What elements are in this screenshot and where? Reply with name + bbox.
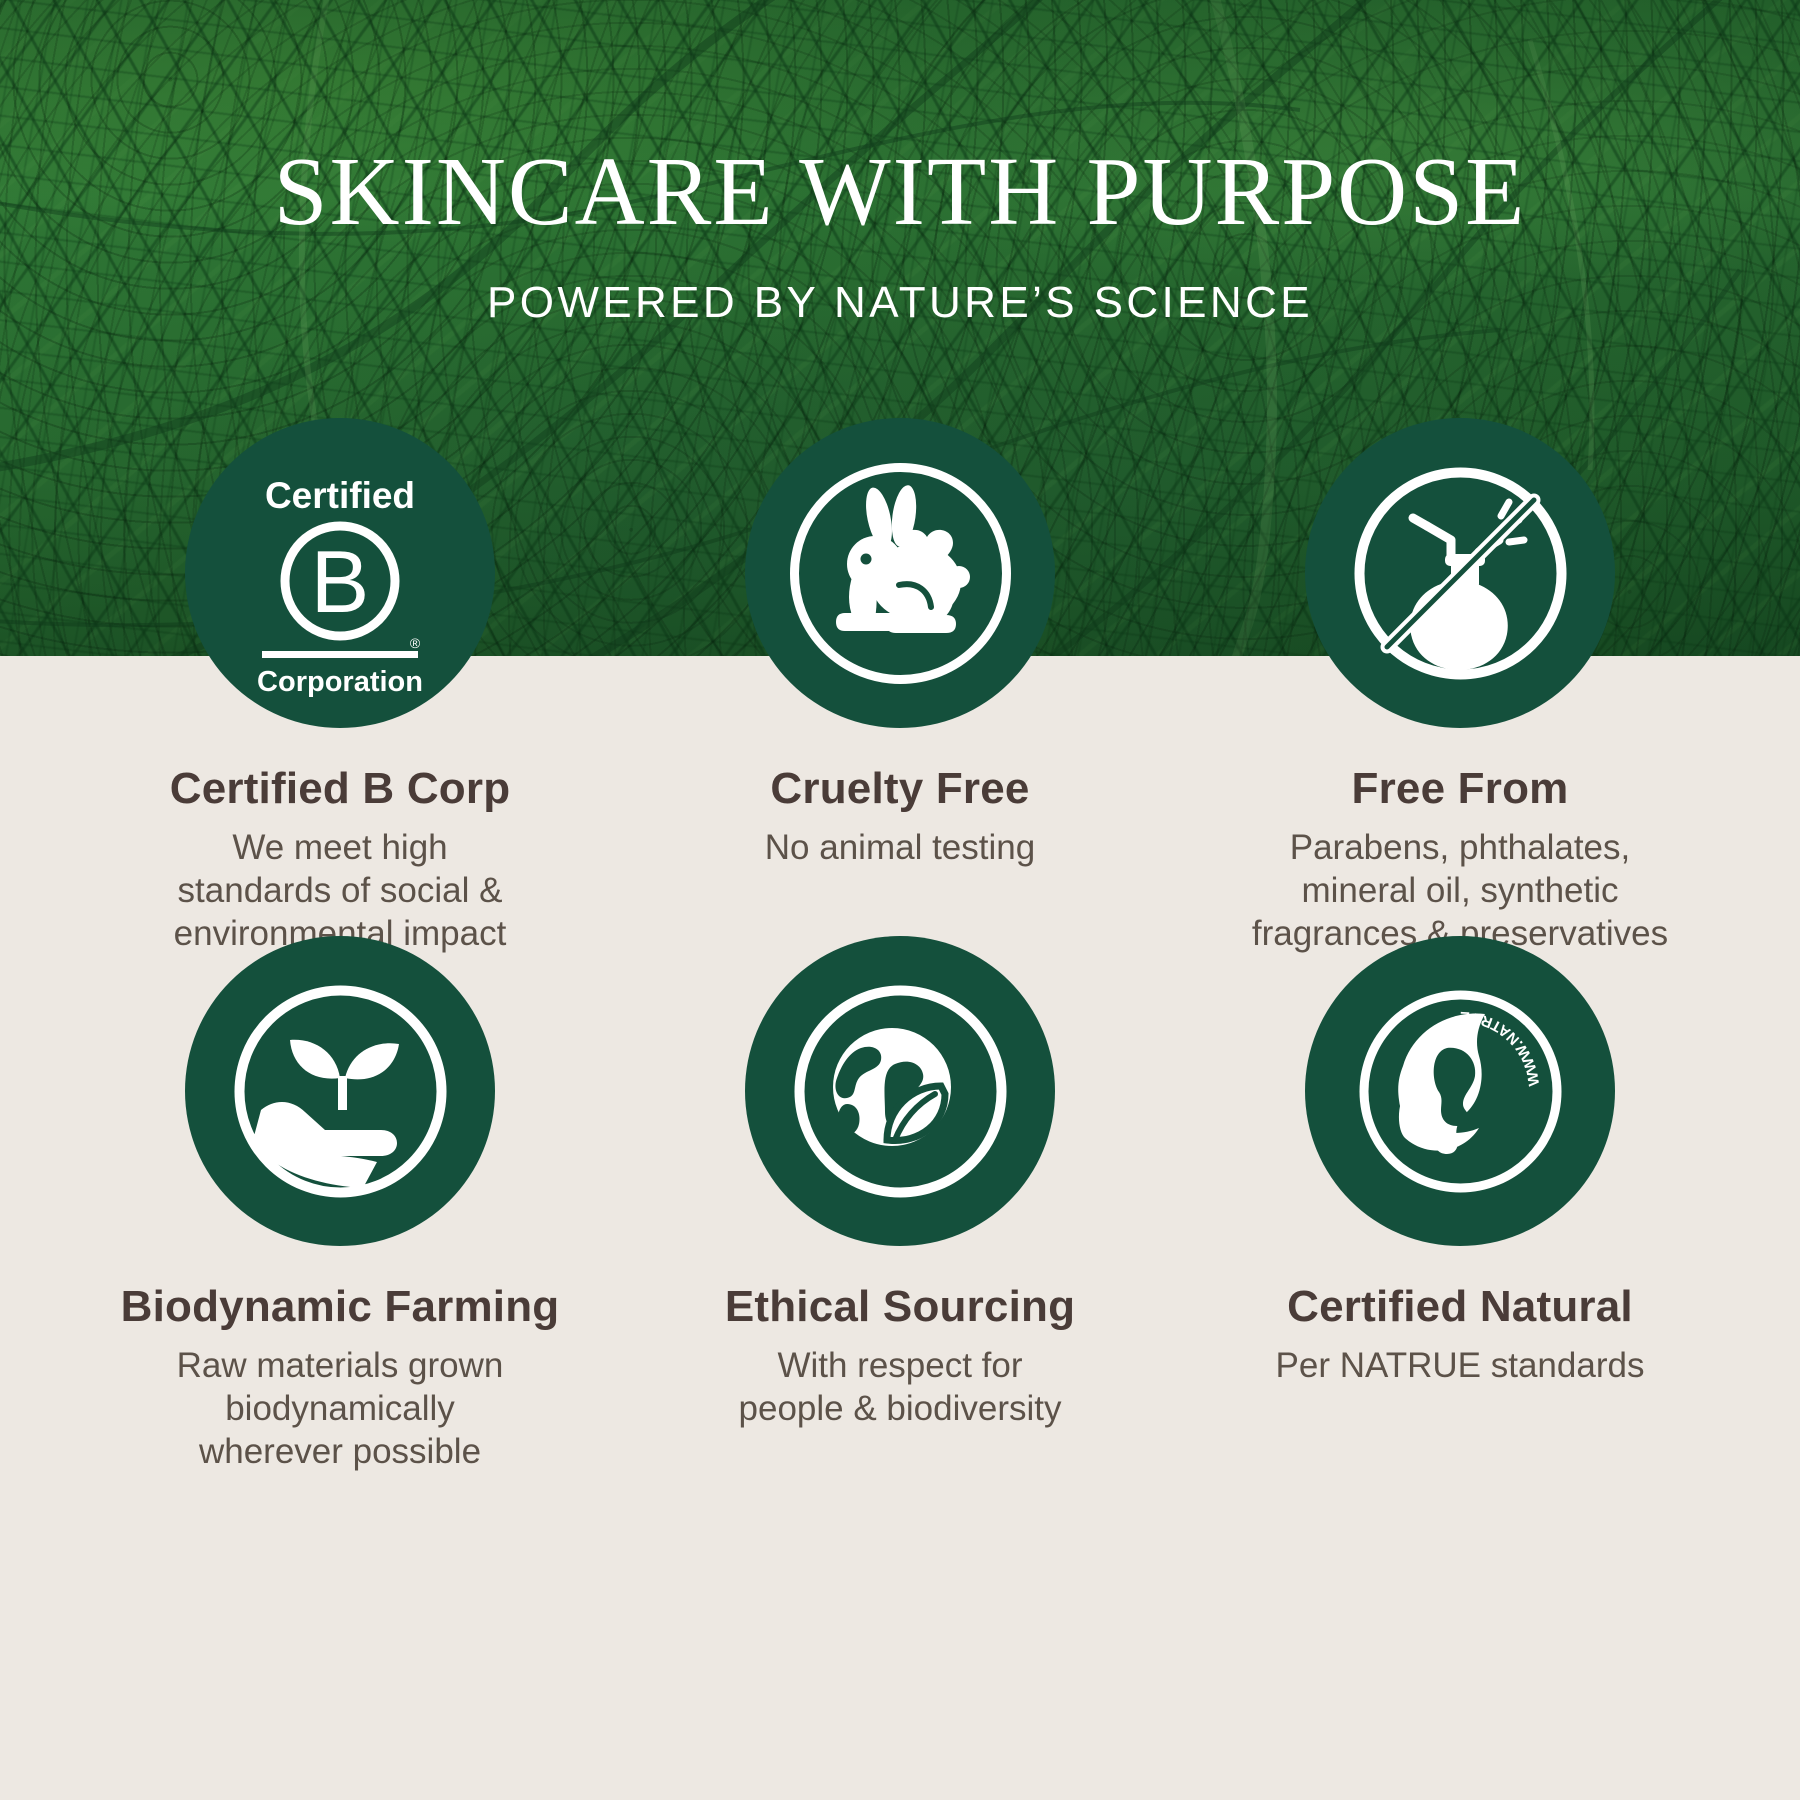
card-free-from[interactable]: Free From Parabens, phthalates, mineral … [1160,418,1760,955]
card-certified-b-corp[interactable]: Certified B ® Corporation Certified B Co… [40,418,640,955]
natrue-face-leaf-icon: WWW.NATRUE.ORG [1305,936,1615,1246]
rabbit-heart-icon [745,418,1055,728]
card-title: Certified Natural [1160,1282,1760,1331]
card-title: Cruelty Free [600,764,1200,813]
card-description: With respect for people & biodiversity [600,1345,1200,1430]
card-certified-natural[interactable]: WWW.NATRUE.ORG Certified Natural Per NAT… [1160,936,1760,1388]
no-spray-bottle-icon [1305,418,1615,728]
card-title: Ethical Sourcing [600,1282,1200,1331]
card-title: Certified B Corp [40,764,640,813]
hand-seedling-icon [185,936,495,1246]
b-corp-icon: Certified B ® Corporation [185,418,495,728]
b-corp-registered-mark: ® [410,635,421,651]
b-corp-letter-b: B [311,532,370,631]
b-corp-certified-text: Certified [265,475,415,516]
card-description: Raw materials grown biodynamically where… [40,1345,640,1473]
card-title: Free From [1160,764,1760,813]
card-description: Per NATRUE standards [1160,1345,1760,1388]
certification-grid: Certified B ® Corporation Certified B Co… [0,0,1800,1800]
b-corp-corporation-text: Corporation [257,666,423,698]
card-biodynamic-farming[interactable]: Biodynamic Farming Raw materials grown b… [40,936,640,1473]
card-title: Biodynamic Farming [40,1282,640,1331]
card-cruelty-free[interactable]: Cruelty Free No animal testing [600,418,1200,870]
card-ethical-sourcing[interactable]: Ethical Sourcing With respect for people… [600,936,1200,1431]
globe-leaf-icon [745,936,1055,1246]
card-description: No animal testing [600,827,1200,870]
